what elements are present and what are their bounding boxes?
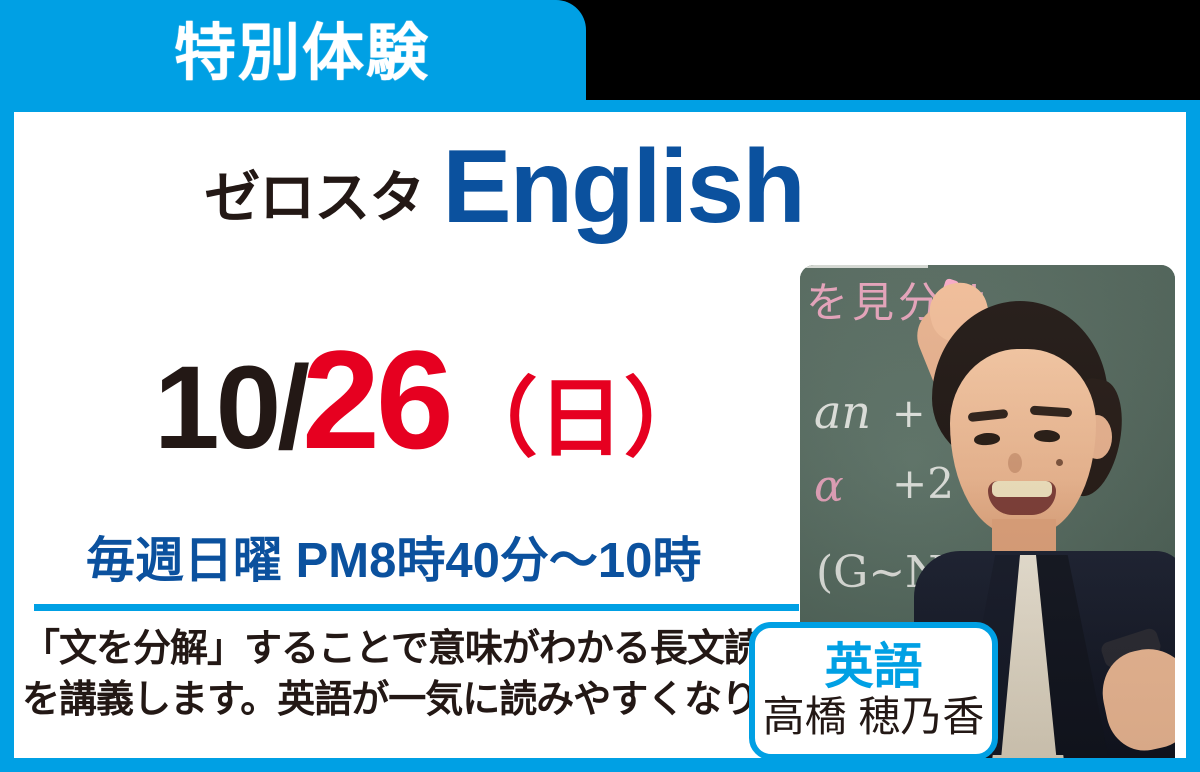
event-date: 10/ 26 （日） bbox=[154, 330, 710, 470]
chalkboard-note-4: α bbox=[814, 461, 844, 512]
instructor-badge: 英語 高橋 穂乃香 bbox=[749, 622, 998, 758]
teeth bbox=[992, 481, 1052, 497]
course-card: ゼロスタ English 10/ 26 （日） 毎週日曜 PM8時40分〜10時… bbox=[14, 112, 1186, 758]
course-title: ゼロスタ English bbox=[14, 142, 994, 234]
course-description-line-1: 「文を分解」することで意味がわかる長文読解 bbox=[22, 624, 762, 675]
event-date-weekday: （日） bbox=[452, 376, 710, 462]
special-experience-tab: 特別体験 bbox=[0, 0, 586, 108]
mole bbox=[1056, 459, 1063, 466]
course-title-english: English bbox=[442, 142, 804, 234]
course-description: 「文を分解」することで意味がわかる長文読解 を講義します。英語が一気に読みやすく… bbox=[22, 624, 762, 726]
course-description-line-2: を講義します。英語が一気に読みやすくなります! bbox=[22, 675, 762, 726]
class-schedule: 毎週日曜 PM8時40分〜10時 bbox=[86, 537, 701, 586]
promo-banner: 特別体験 ゼロスタ English 10/ 26 （日） 毎週日曜 PM8時40… bbox=[0, 0, 1200, 772]
mouth bbox=[988, 481, 1056, 515]
instructor-subject: 英語 bbox=[824, 643, 922, 693]
divider-rule bbox=[34, 604, 799, 611]
chalkboard-note-2: an bbox=[814, 385, 871, 439]
course-title-kana: ゼロスタ bbox=[204, 170, 424, 234]
special-experience-tab-label: 特別体験 bbox=[174, 23, 430, 85]
event-date-month: 10/ bbox=[154, 349, 306, 467]
nose bbox=[1008, 453, 1022, 473]
instructor-name: 高橋 穂乃香 bbox=[763, 695, 985, 739]
event-date-day: 26 bbox=[302, 330, 450, 470]
chalkboard-fraction-bar bbox=[800, 265, 928, 268]
